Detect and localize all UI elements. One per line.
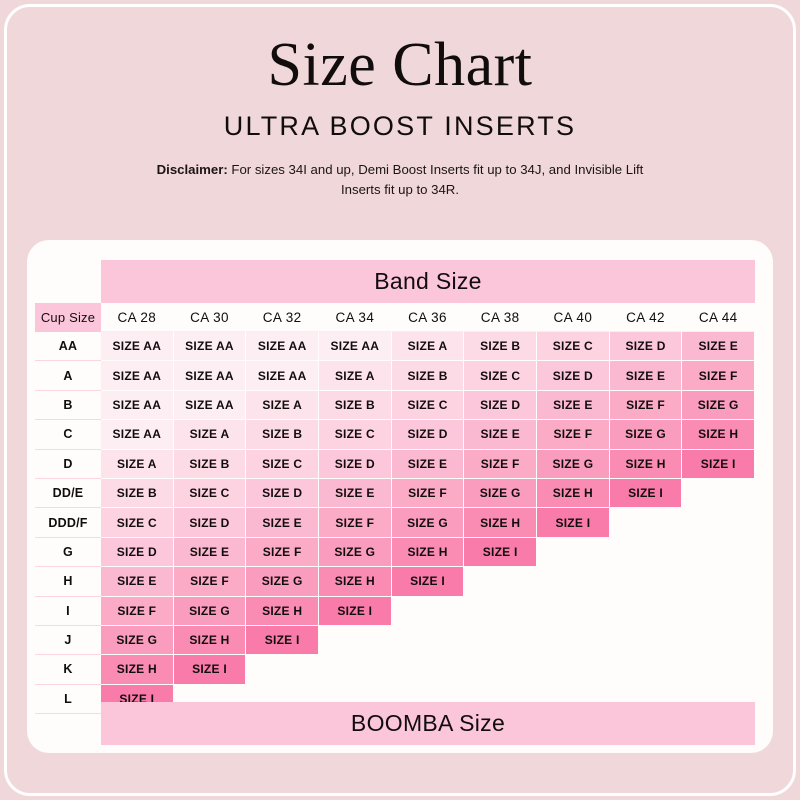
size-cell-empty <box>682 538 755 567</box>
size-cell: SIZE D <box>319 450 392 479</box>
size-cell: SIZE H <box>392 538 465 567</box>
size-cell: SIZE B <box>174 450 247 479</box>
size-cell: SIZE C <box>319 420 392 449</box>
size-cell-empty <box>319 655 392 684</box>
size-cell: SIZE I <box>246 626 319 655</box>
size-cell: SIZE A <box>319 361 392 390</box>
size-cell-empty <box>464 567 537 596</box>
size-cell-empty <box>610 567 683 596</box>
size-cell: SIZE D <box>610 332 683 361</box>
size-cell: SIZE E <box>319 479 392 508</box>
band-size-header-ca-42: CA 42 <box>610 303 683 332</box>
size-cell: SIZE D <box>246 479 319 508</box>
size-cell: SIZE D <box>392 420 465 449</box>
table-row: DD/ESIZE BSIZE CSIZE DSIZE ESIZE FSIZE G… <box>35 479 755 508</box>
size-cell: SIZE F <box>610 391 683 420</box>
cup-size-label: D <box>35 450 101 479</box>
size-cell: SIZE F <box>101 597 174 626</box>
cup-size-label: K <box>35 655 101 684</box>
size-cell-empty <box>537 655 610 684</box>
size-cell-empty <box>682 567 755 596</box>
disclaimer-body: For sizes 34I and up, Demi Boost Inserts… <box>228 162 644 197</box>
table-row: CSIZE AASIZE ASIZE BSIZE CSIZE DSIZE ESI… <box>35 420 755 449</box>
cup-size-label: G <box>35 538 101 567</box>
size-cell: SIZE E <box>174 538 247 567</box>
page-title: Size Chart <box>0 28 800 102</box>
size-cell: SIZE G <box>392 508 465 537</box>
size-cell: SIZE D <box>464 391 537 420</box>
size-cell: SIZE E <box>101 567 174 596</box>
size-cell: SIZE G <box>101 626 174 655</box>
table-row: AASIZE AASIZE AASIZE AASIZE AASIZE ASIZE… <box>35 332 755 361</box>
table-header-row: Cup SizeCA 28CA 30CA 32CA 34CA 36CA 38CA… <box>35 303 755 332</box>
size-cell: SIZE B <box>464 332 537 361</box>
size-cell: SIZE I <box>174 655 247 684</box>
size-cell: SIZE F <box>464 450 537 479</box>
size-cell: SIZE AA <box>101 391 174 420</box>
cup-size-label: L <box>35 685 101 714</box>
size-cell-empty <box>682 508 755 537</box>
band-size-header-ca-36: CA 36 <box>392 303 465 332</box>
size-cell-empty <box>610 538 683 567</box>
size-cell: SIZE AA <box>319 332 392 361</box>
size-cell-empty <box>537 597 610 626</box>
size-cell: SIZE G <box>464 479 537 508</box>
size-cell: SIZE F <box>174 567 247 596</box>
size-cell-empty <box>464 597 537 626</box>
table-row: ISIZE FSIZE GSIZE HSIZE I <box>35 597 755 626</box>
size-cell-empty <box>319 626 392 655</box>
cup-size-label: B <box>35 391 101 420</box>
size-cell: SIZE A <box>246 391 319 420</box>
size-cell-empty <box>610 508 683 537</box>
size-cell: SIZE E <box>464 420 537 449</box>
page-subtitle: ULTRA BOOST INSERTS <box>0 110 800 142</box>
size-cell: SIZE AA <box>101 420 174 449</box>
size-cell: SIZE F <box>392 479 465 508</box>
size-cell-empty <box>392 655 465 684</box>
size-cell-empty <box>537 567 610 596</box>
boomba-size-banner: BOOMBA Size <box>101 702 755 745</box>
size-cell: SIZE AA <box>101 332 174 361</box>
size-cell: SIZE C <box>392 391 465 420</box>
cup-size-label: DD/E <box>35 479 101 508</box>
band-size-header-ca-32: CA 32 <box>246 303 319 332</box>
disclaimer-text: Disclaimer: For sizes 34I and up, Demi B… <box>150 160 650 200</box>
band-size-header-ca-44: CA 44 <box>682 303 755 332</box>
table-row: ASIZE AASIZE AASIZE AASIZE ASIZE BSIZE C… <box>35 361 755 390</box>
size-cell-empty <box>610 655 683 684</box>
size-cell: SIZE F <box>246 538 319 567</box>
size-cell: SIZE I <box>392 567 465 596</box>
band-size-header-ca-28: CA 28 <box>101 303 174 332</box>
size-cell: SIZE G <box>537 450 610 479</box>
size-cell: SIZE AA <box>174 332 247 361</box>
size-cell: SIZE D <box>537 361 610 390</box>
size-cell: SIZE E <box>537 391 610 420</box>
size-grid: Cup SizeCA 28CA 30CA 32CA 34CA 36CA 38CA… <box>35 303 755 714</box>
table-row: JSIZE GSIZE HSIZE I <box>35 626 755 655</box>
size-cell: SIZE I <box>464 538 537 567</box>
size-cell: SIZE I <box>682 450 755 479</box>
table-row: BSIZE AASIZE AASIZE ASIZE BSIZE CSIZE DS… <box>35 391 755 420</box>
size-cell: SIZE E <box>246 508 319 537</box>
size-cell-empty <box>610 626 683 655</box>
band-size-banner: Band Size <box>101 260 755 303</box>
size-cell: SIZE H <box>174 626 247 655</box>
size-cell: SIZE AA <box>246 361 319 390</box>
size-cell: SIZE A <box>101 450 174 479</box>
size-cell: SIZE F <box>682 361 755 390</box>
size-cell-empty <box>682 655 755 684</box>
size-cell: SIZE E <box>610 361 683 390</box>
table-row: HSIZE ESIZE FSIZE GSIZE HSIZE I <box>35 567 755 596</box>
size-cell: SIZE AA <box>101 361 174 390</box>
band-size-header-ca-40: CA 40 <box>537 303 610 332</box>
size-cell: SIZE G <box>682 391 755 420</box>
size-cell: SIZE G <box>610 420 683 449</box>
size-cell-empty <box>682 597 755 626</box>
table-row: GSIZE DSIZE ESIZE FSIZE GSIZE HSIZE I <box>35 538 755 567</box>
size-cell: SIZE C <box>174 479 247 508</box>
size-cell: SIZE AA <box>174 391 247 420</box>
size-cell: SIZE H <box>537 479 610 508</box>
size-cell: SIZE F <box>537 420 610 449</box>
band-size-header-ca-38: CA 38 <box>464 303 537 332</box>
size-cell: SIZE B <box>319 391 392 420</box>
size-cell: SIZE H <box>682 420 755 449</box>
size-cell: SIZE D <box>174 508 247 537</box>
size-cell: SIZE C <box>101 508 174 537</box>
size-cell: SIZE C <box>464 361 537 390</box>
size-cell: SIZE C <box>246 450 319 479</box>
cup-size-label: C <box>35 420 101 449</box>
size-cell-empty <box>464 655 537 684</box>
size-cell-empty <box>682 626 755 655</box>
size-cell: SIZE I <box>610 479 683 508</box>
cup-size-label: H <box>35 567 101 596</box>
size-cell: SIZE B <box>392 361 465 390</box>
size-cell: SIZE H <box>246 597 319 626</box>
page-header: Size Chart ULTRA BOOST INSERTS Disclaime… <box>0 0 800 200</box>
size-cell-empty <box>246 655 319 684</box>
band-size-header-ca-30: CA 30 <box>174 303 247 332</box>
size-cell: SIZE H <box>464 508 537 537</box>
band-size-header-ca-34: CA 34 <box>319 303 392 332</box>
size-cell-empty <box>537 626 610 655</box>
size-cell: SIZE G <box>174 597 247 626</box>
size-cell-empty <box>392 597 465 626</box>
size-cell: SIZE B <box>101 479 174 508</box>
size-cell-empty <box>610 597 683 626</box>
size-cell: SIZE C <box>537 332 610 361</box>
table-row: DSIZE ASIZE BSIZE CSIZE DSIZE ESIZE FSIZ… <box>35 450 755 479</box>
size-cell: SIZE I <box>319 597 392 626</box>
size-cell: SIZE AA <box>246 332 319 361</box>
size-cell: SIZE A <box>392 332 465 361</box>
cup-size-label: I <box>35 597 101 626</box>
size-cell: SIZE H <box>319 567 392 596</box>
cup-size-header: Cup Size <box>35 303 101 332</box>
size-cell: SIZE I <box>537 508 610 537</box>
size-cell-empty <box>682 479 755 508</box>
size-cell: SIZE E <box>682 332 755 361</box>
size-cell: SIZE G <box>319 538 392 567</box>
size-cell: SIZE B <box>246 420 319 449</box>
size-cell-empty <box>392 626 465 655</box>
size-cell: SIZE H <box>610 450 683 479</box>
size-cell: SIZE AA <box>174 361 247 390</box>
size-cell-empty <box>464 626 537 655</box>
size-cell-empty <box>537 538 610 567</box>
disclaimer-label: Disclaimer: <box>157 162 228 177</box>
cup-size-label: AA <box>35 332 101 361</box>
cup-size-label: DDD/F <box>35 508 101 537</box>
size-cell: SIZE D <box>101 538 174 567</box>
cup-size-label: A <box>35 361 101 390</box>
size-cell: SIZE A <box>174 420 247 449</box>
size-cell: SIZE G <box>246 567 319 596</box>
table-row: DDD/FSIZE CSIZE DSIZE ESIZE FSIZE GSIZE … <box>35 508 755 537</box>
table-row: KSIZE HSIZE I <box>35 655 755 684</box>
cup-size-label: J <box>35 626 101 655</box>
size-cell: SIZE E <box>392 450 465 479</box>
size-chart-page: Size Chart ULTRA BOOST INSERTS Disclaime… <box>0 0 800 800</box>
size-cell: SIZE F <box>319 508 392 537</box>
size-cell: SIZE H <box>101 655 174 684</box>
